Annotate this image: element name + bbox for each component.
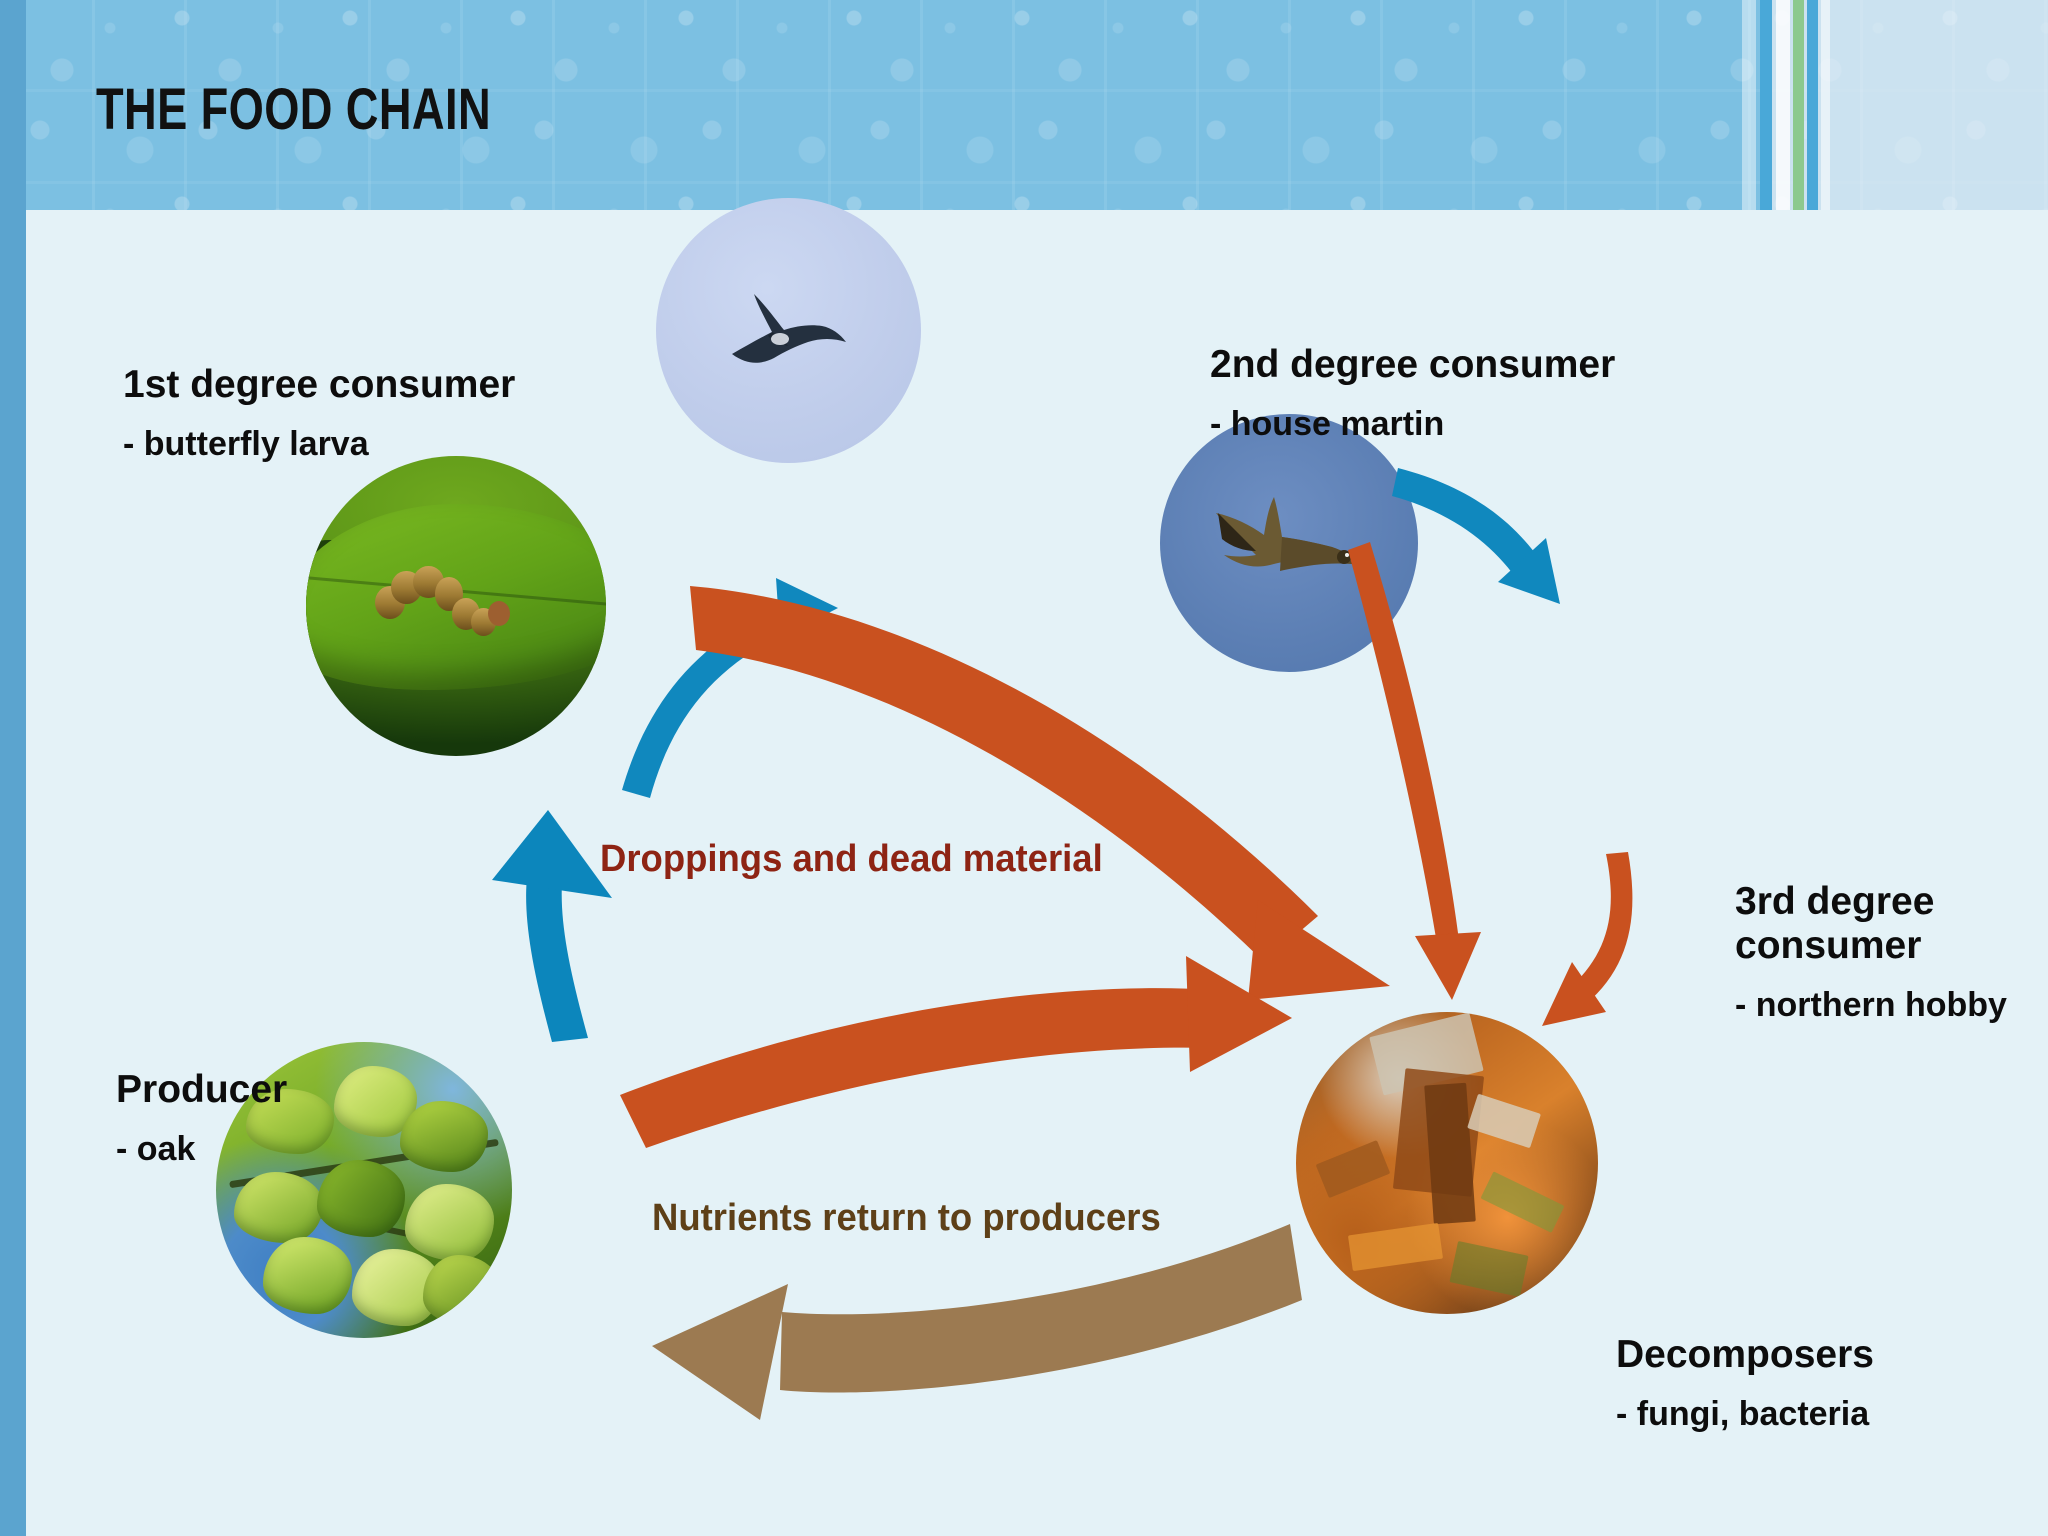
label-subtitle: - oak: [116, 1130, 287, 1168]
flow-label-droppings: Droppings and dead material: [600, 838, 1103, 881]
header-ribbon-stripe-2: [1760, 0, 1772, 210]
header-ribbon-stripe-6: [1821, 0, 1830, 210]
label-title: 2nd degree consumer: [1210, 343, 1615, 387]
left-accent-stripe: [0, 0, 26, 1536]
label-title: 3rd degree consumer: [1735, 880, 2048, 968]
label-subtitle: - butterfly larva: [123, 425, 515, 463]
label-3rd-degree-consumer: 3rd degree consumer - northern hobby: [1735, 862, 2048, 1043]
label-2nd-degree-consumer: 2nd degree consumer - house martin: [1210, 325, 1615, 462]
header-ribbon-stripe-3: [1776, 0, 1790, 210]
label-title: Decomposers: [1616, 1333, 1874, 1377]
label-subtitle: - house martin: [1210, 405, 1615, 443]
caterpillar-shape: [372, 564, 510, 648]
photo-butterfly-larva: [306, 456, 606, 756]
house-martin-silhouette: [714, 276, 864, 386]
slide-canvas: THE FOOD CHAIN: [0, 0, 2048, 1536]
photo-decomposers: [1296, 1012, 1598, 1314]
header-ribbon-stripe-1: [1742, 0, 1756, 210]
northern-hobby-silhouette: [1194, 473, 1384, 613]
header-ribbon-stripe-green: [1793, 0, 1804, 210]
label-title: 1st degree consumer: [123, 363, 515, 407]
label-1st-degree-consumer: 1st degree consumer - butterfly larva: [123, 345, 515, 482]
label-subtitle: - northern hobby: [1735, 986, 2048, 1024]
label-subtitle: - fungi, bacteria: [1616, 1395, 1874, 1433]
label-decomposers: Decomposers - fungi, bacteria: [1616, 1315, 1874, 1452]
page-title: THE FOOD CHAIN: [96, 76, 491, 143]
photo-house-martin: [656, 198, 921, 463]
label-producer: Producer - oak: [116, 1050, 287, 1187]
header-ribbon-stripe-5: [1807, 0, 1818, 210]
label-title: Producer: [116, 1068, 287, 1112]
flow-label-nutrients: Nutrients return to producers: [652, 1197, 1161, 1240]
